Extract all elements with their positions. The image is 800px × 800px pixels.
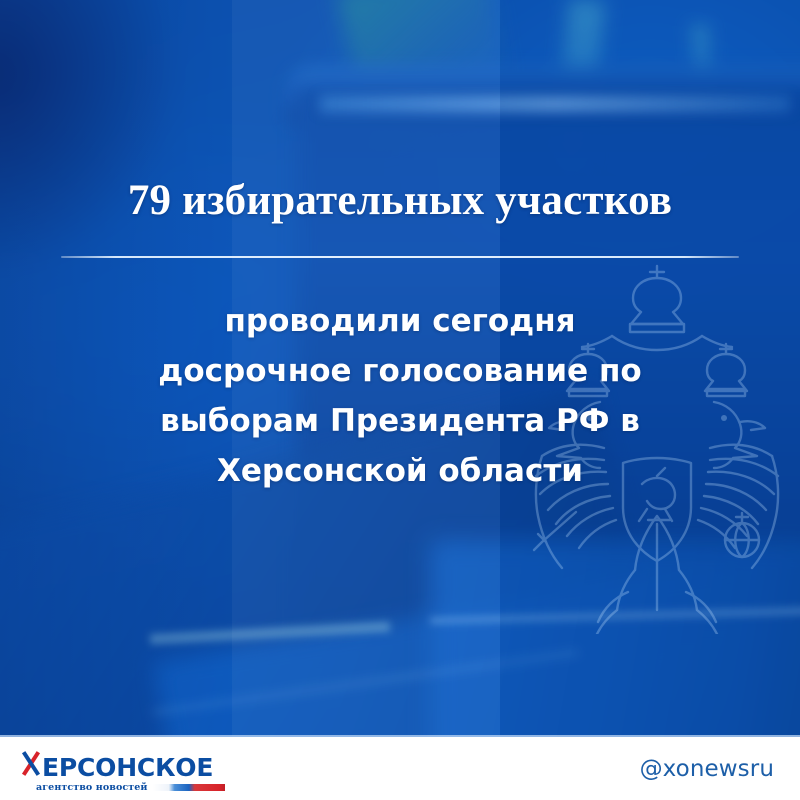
logo-wordmark: ЕРСОНСКОЕ — [42, 755, 213, 780]
logo-subtitle-row: агентство новостей — [36, 782, 225, 793]
x-mark-icon — [20, 751, 41, 776]
social-handle[interactable]: @xonewsru — [640, 756, 774, 782]
headline: 79 избирательных участков — [0, 178, 800, 224]
logo-wordmark-row: ЕРСОНСКОЕ — [20, 751, 225, 780]
brand-logo[interactable]: ЕРСОНСКОЕ агентство новостей — [20, 752, 225, 792]
news-card: 79 избирательных участков проводили сего… — [0, 0, 800, 800]
body-line: выборам Президента РФ в — [118, 396, 682, 446]
body-line: досрочное голосование по — [118, 346, 682, 396]
headline-divider — [61, 256, 739, 258]
logo-subtitle: агентство новостей — [36, 782, 148, 793]
russian-tricolor-bar-icon — [153, 784, 225, 791]
body-line: проводили сегодня — [118, 296, 682, 346]
card-content: 79 избирательных участков проводили сего… — [0, 0, 800, 737]
body-text: проводили сегодня досрочное голосование … — [118, 296, 682, 496]
body-line: Херсонской области — [118, 446, 682, 496]
